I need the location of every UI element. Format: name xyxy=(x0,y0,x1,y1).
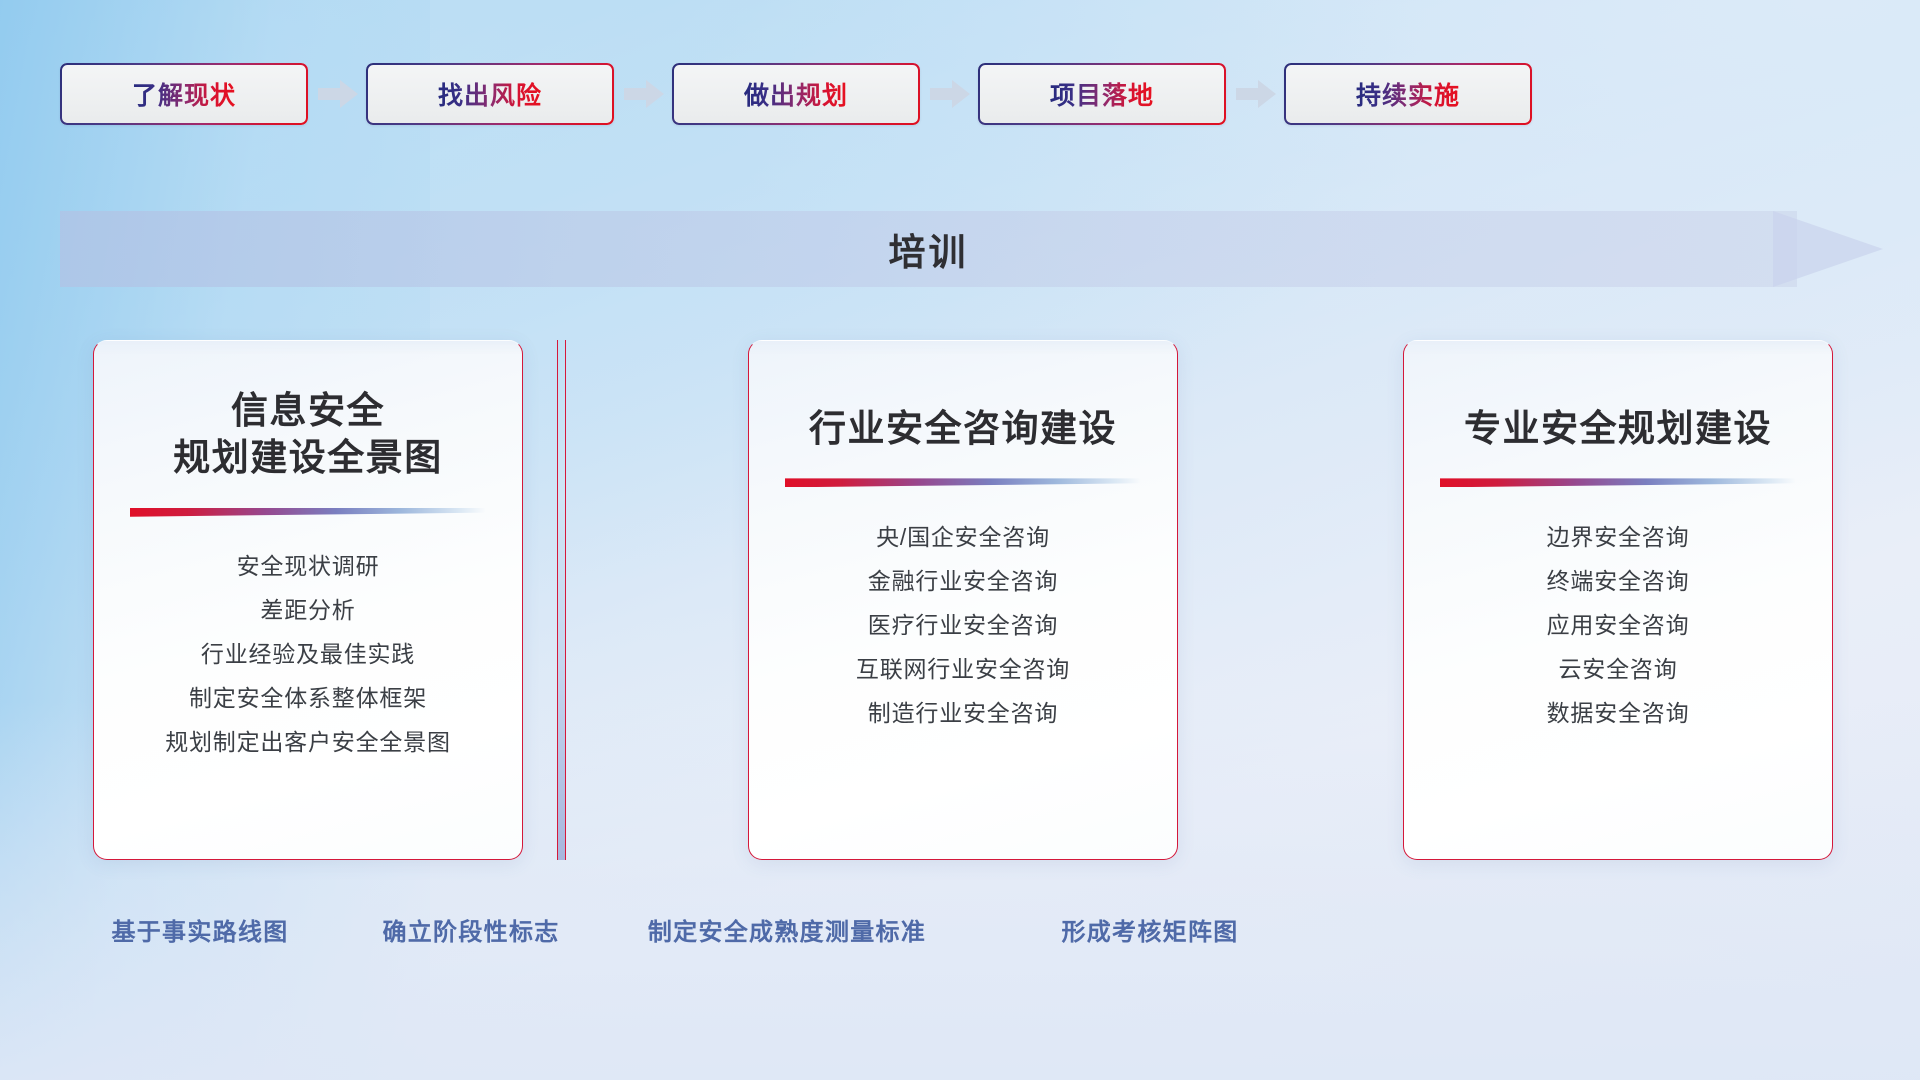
step-box-2[interactable]: 找出风险 xyxy=(366,63,614,125)
step-label-3: 做出规划 xyxy=(744,76,848,112)
list-item: 边界安全咨询 xyxy=(1430,515,1806,559)
list-item: 金融行业安全咨询 xyxy=(775,559,1151,603)
training-band-title: 培训 xyxy=(60,211,1797,287)
training-band: 培训 xyxy=(60,211,1860,287)
footnote-4: 形成考核矩阵图 xyxy=(1061,912,1238,947)
card-2[interactable]: 行业安全咨询建设 央/国企安全咨询 金融行业安全咨询 医疗行业安全咨询 互联网行… xyxy=(748,340,1178,860)
step-box-1[interactable]: 了解现状 xyxy=(60,63,308,125)
card-rule-1 xyxy=(130,508,486,517)
list-item: 互联网行业安全咨询 xyxy=(775,647,1151,691)
step-label-4: 项目落地 xyxy=(1050,76,1154,112)
footnote-1: 基于事实路线图 xyxy=(111,912,288,947)
process-step-row: 了解现状 找出风险 做出规划 项目落地 持续实施 xyxy=(60,63,1860,125)
list-item: 制造行业安全咨询 xyxy=(775,691,1151,735)
list-item: 终端安全咨询 xyxy=(1430,559,1806,603)
card-title-2: 行业安全咨询建设 xyxy=(775,405,1151,452)
step-arrow-icon-4 xyxy=(1226,63,1284,125)
step-box-5[interactable]: 持续实施 xyxy=(1284,63,1532,125)
step-arrow-icon-2 xyxy=(614,63,672,125)
list-item: 规划制定出客户安全全景图 xyxy=(120,721,496,765)
footnote-2: 确立阶段性标志 xyxy=(382,912,559,947)
list-item: 云安全咨询 xyxy=(1430,647,1806,691)
list-item: 应用安全咨询 xyxy=(1430,603,1806,647)
card-title-1: 信息安全 规划建设全景图 xyxy=(120,387,496,482)
step-label-1: 了解现状 xyxy=(132,76,236,112)
list-item: 数据安全咨询 xyxy=(1430,691,1806,735)
card-rule-2 xyxy=(785,478,1141,487)
step-label-5: 持续实施 xyxy=(1356,76,1460,112)
step-box-3[interactable]: 做出规划 xyxy=(672,63,920,125)
step-arrow-icon-1 xyxy=(308,63,366,125)
card-list-3: 边界安全咨询 终端安全咨询 应用安全咨询 云安全咨询 数据安全咨询 xyxy=(1430,515,1806,735)
list-item: 制定安全体系整体框架 xyxy=(120,677,496,721)
list-item: 差距分析 xyxy=(120,589,496,633)
footnote-row: 基于事实路线图 确立阶段性标志 制定安全成熟度测量标准 形成考核矩阵图 xyxy=(0,912,1920,952)
card-list-2: 央/国企安全咨询 金融行业安全咨询 医疗行业安全咨询 互联网行业安全咨询 制造行… xyxy=(775,515,1151,735)
list-item: 医疗行业安全咨询 xyxy=(775,603,1151,647)
card-list-1: 安全现状调研 差距分析 行业经验及最佳实践 制定安全体系整体框架 规划制定出客户… xyxy=(120,545,496,765)
card-3[interactable]: 专业安全规划建设 边界安全咨询 终端安全咨询 应用安全咨询 云安全咨询 数据安全… xyxy=(1403,340,1833,860)
card-1[interactable]: 信息安全 规划建设全景图 安全现状调研 差距分析 行业经验及最佳实践 制定安全体… xyxy=(93,340,523,860)
card-title-3: 专业安全规划建设 xyxy=(1430,405,1806,452)
card-row: 信息安全 规划建设全景图 安全现状调研 差距分析 行业经验及最佳实践 制定安全体… xyxy=(93,340,1833,860)
list-item: 行业经验及最佳实践 xyxy=(120,633,496,677)
list-item: 央/国企安全咨询 xyxy=(775,515,1151,559)
footnote-3: 制定安全成熟度测量标准 xyxy=(648,912,926,947)
step-box-4[interactable]: 项目落地 xyxy=(978,63,1226,125)
step-arrow-icon-3 xyxy=(920,63,978,125)
card-rule-3 xyxy=(1440,478,1796,487)
list-item: 安全现状调研 xyxy=(120,545,496,589)
step-label-2: 找出风险 xyxy=(438,76,542,112)
